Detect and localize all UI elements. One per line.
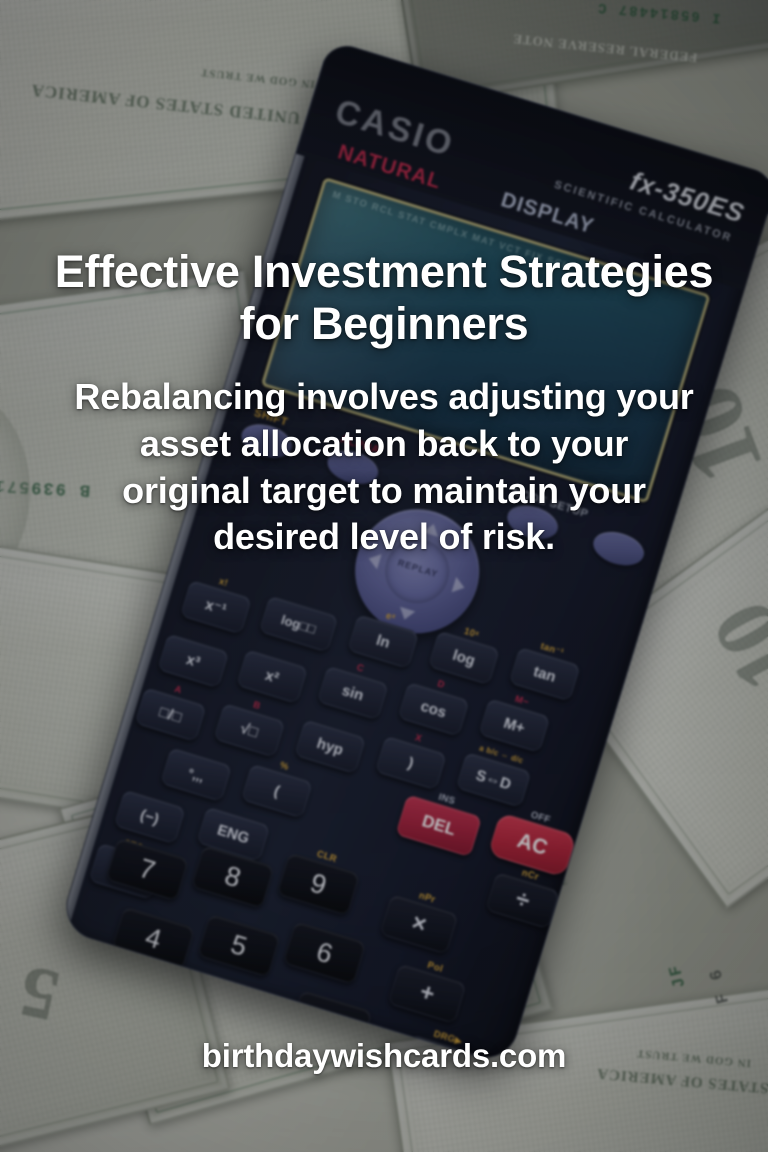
- page-title: Effective Investment Strategies for Begi…: [40, 246, 728, 350]
- quote-card: THE UNITED STATES OF AMERICA IN GOD WE T…: [0, 0, 768, 1152]
- text-overlay: Effective Investment Strategies for Begi…: [0, 0, 768, 1152]
- website-url: birthdaywishcards.com: [0, 1037, 768, 1075]
- body-text: Rebalancing involves adjusting your asse…: [72, 374, 696, 561]
